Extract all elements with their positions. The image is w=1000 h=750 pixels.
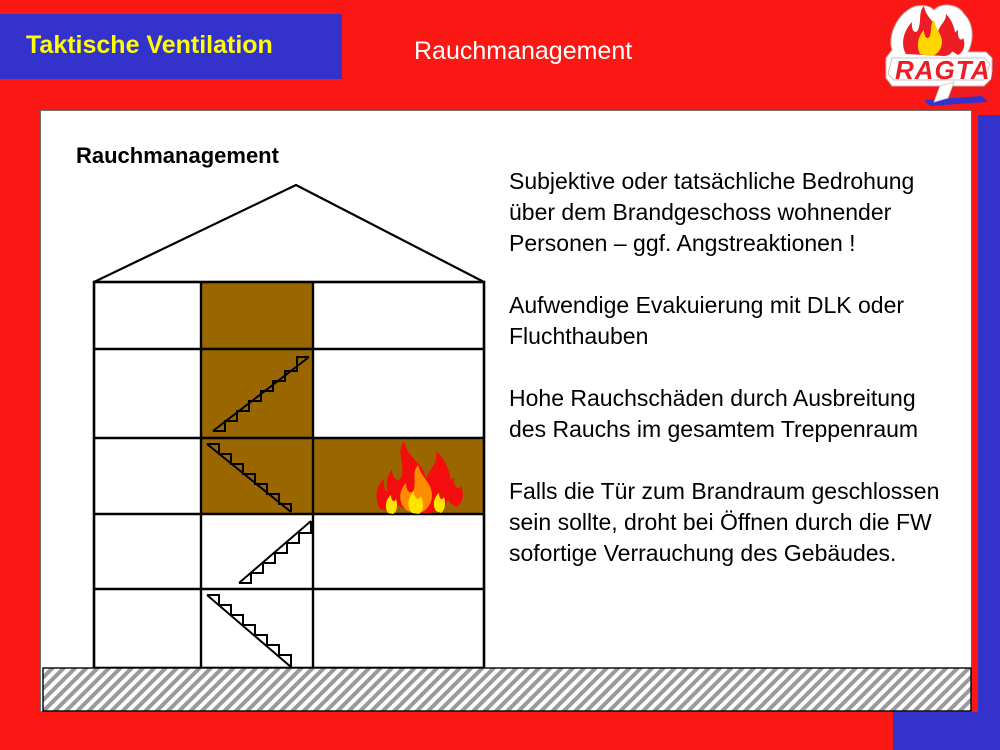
title-badge: Taktische Ventilation [0,14,342,79]
paragraph-threat: Subjektive oder tatsächliche Bedrohung ü… [509,166,959,259]
content-panel: Rauchmanagement [40,110,972,712]
staircase-floor-2 [239,521,311,583]
paragraph-evacuation: Aufwendige Evakuierung mit DLK oder Fluc… [509,290,959,352]
paragraph-smoke-damage: Hohe Rauchschäden durch Ausbreitung des … [509,383,959,445]
bottom-blue-accent-bar [893,712,1000,750]
paragraph-door-warning: Falls die Tür zum Brandraum geschlossen … [509,476,959,569]
right-blue-accent-bar [978,115,1000,750]
smoke-zone-stairwell-floor5 [201,282,313,349]
title-badge-label: Taktische Ventilation [26,31,273,60]
ragtal-logo: RAGTAL [862,0,1000,115]
page-title: Rauchmanagement [414,37,632,66]
slide-root: Taktische Ventilation Rauchmanagement RA… [0,0,1000,750]
smoke-zone-stairwell-floor3 [201,438,313,514]
ground-hatch-band [43,668,971,711]
bullet-text-column: Subjektive oder tatsächliche Bedrohung ü… [509,166,959,569]
roof [94,185,484,282]
logo-wordmark: RAGTAL [895,55,1000,85]
staircase-floor-1 [207,595,291,667]
